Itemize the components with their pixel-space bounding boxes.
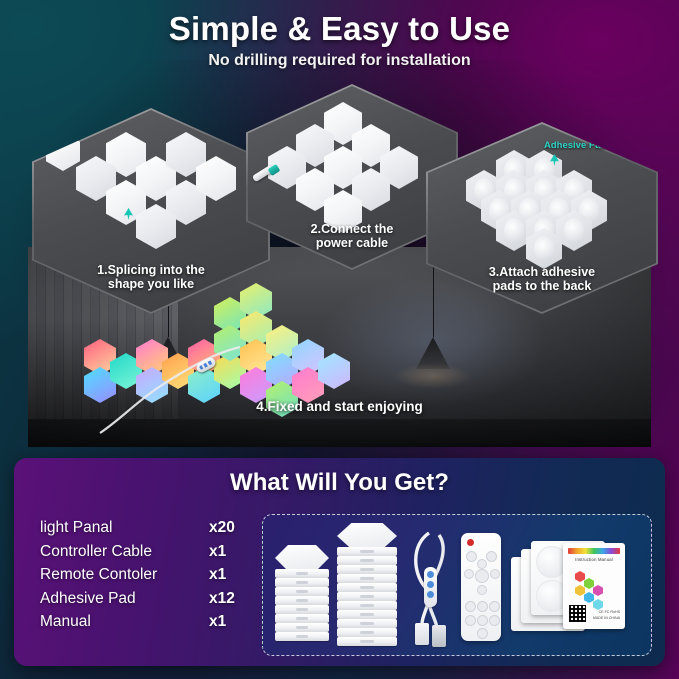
contents-row: Manualx1 xyxy=(40,610,255,634)
step-4-caption: 4.Fixed and start enjoying xyxy=(28,399,651,414)
controller-cable xyxy=(409,529,453,645)
contents-item-name: Controller Cable xyxy=(40,540,209,564)
panel-title: What Will You Get? xyxy=(14,469,665,497)
contents-item-qty: x12 xyxy=(209,587,255,611)
contents-row: light Panalx20 xyxy=(40,516,255,540)
contents-row: Controller Cablex1 xyxy=(40,540,255,564)
contents-item-qty: x1 xyxy=(209,540,255,564)
infographic-root: Simple & Easy to Use No drilling require… xyxy=(0,0,679,679)
contents-item-name: light Panal xyxy=(40,516,209,540)
contents-item-name: Adhesive Pad xyxy=(40,587,209,611)
contents-item-name: Remote Contoler xyxy=(40,563,209,587)
instruction-manual: Instruction Manual CE FC RoHS MADE IN CH… xyxy=(563,543,625,629)
contents-item-qty: x1 xyxy=(209,563,255,587)
what-you-get-panel: What Will You Get? light Panalx20Control… xyxy=(14,458,665,666)
panel-stack-large xyxy=(337,523,397,649)
page-title: Simple & Easy to Use xyxy=(0,12,679,47)
remote-controller xyxy=(461,533,501,641)
page-subtitle: No drilling required for installation xyxy=(0,52,679,70)
panel-stack-small xyxy=(275,545,329,645)
manual-cover-title: Instruction Manual xyxy=(563,557,625,562)
contents-row: Adhesive Padx12 xyxy=(40,587,255,611)
power-cable xyxy=(28,247,651,447)
product-photo-area: Instruction Manual CE FC RoHS MADE IN CH… xyxy=(262,514,652,656)
contents-item-qty: x20 xyxy=(209,516,255,540)
contents-row: Remote Contolerx1 xyxy=(40,563,255,587)
contents-list: light Panalx20Controller Cablex1Remote C… xyxy=(40,516,255,634)
header: Simple & Easy to Use No drilling require… xyxy=(0,12,679,70)
contents-item-name: Manual xyxy=(40,610,209,634)
room-scene: 4.Fixed and start enjoying xyxy=(28,247,651,447)
qr-code-icon xyxy=(569,605,586,622)
contents-item-qty: x1 xyxy=(209,610,255,634)
manual-footer: CE FC RoHS MADE IN CHINA xyxy=(593,610,620,621)
